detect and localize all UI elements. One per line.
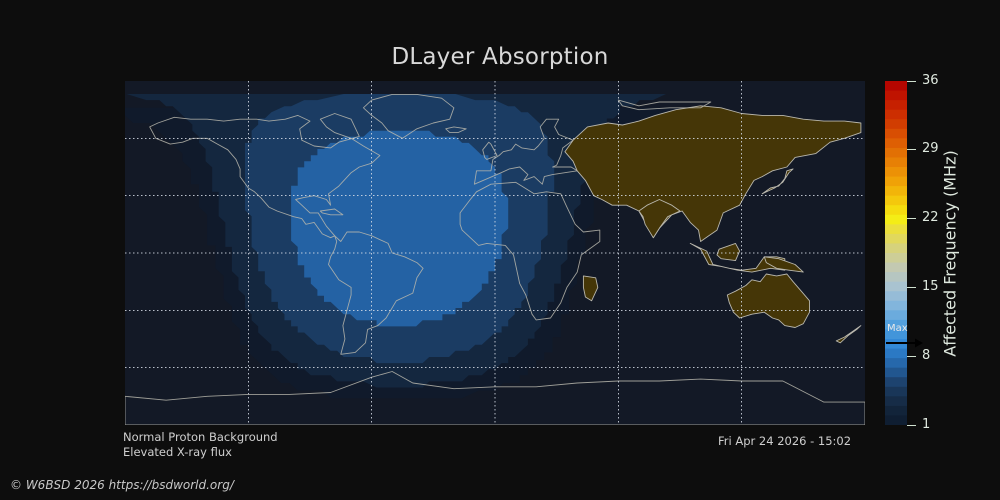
note-xray-flux: Elevated X-ray flux	[123, 445, 232, 459]
map-canvas	[125, 81, 865, 425]
tick-mark	[907, 356, 916, 357]
tick-label: 22	[922, 211, 939, 224]
page-title: DLayer Absorption	[0, 44, 1000, 70]
timestamp: Fri Apr 24 2026 - 15:02	[718, 434, 851, 448]
colorbar-axis-title: Affected Frequency (MHz)	[938, 81, 962, 425]
tick-mark	[907, 149, 916, 150]
tick-label: 29	[922, 142, 939, 155]
tick-mark	[907, 425, 916, 426]
dlayer-absorption-plot: DLayer Absorption 1815222936 Max Affecte…	[0, 0, 1000, 500]
tick-label: 15	[922, 280, 939, 293]
tick-mark	[907, 81, 916, 82]
colorbar[interactable]	[885, 81, 907, 425]
footer-copyright: © W6BSD 2026 https://bsdworld.org/	[10, 478, 234, 492]
tick-mark	[907, 287, 916, 288]
colorbar-gradient	[885, 81, 907, 425]
tick-label: 1	[922, 418, 930, 431]
world-map-panel[interactable]	[125, 81, 865, 425]
note-proton-background: Normal Proton Background	[123, 430, 278, 444]
tick-mark	[907, 218, 916, 219]
tick-label: 8	[922, 349, 930, 362]
tick-label: 36	[922, 74, 939, 87]
